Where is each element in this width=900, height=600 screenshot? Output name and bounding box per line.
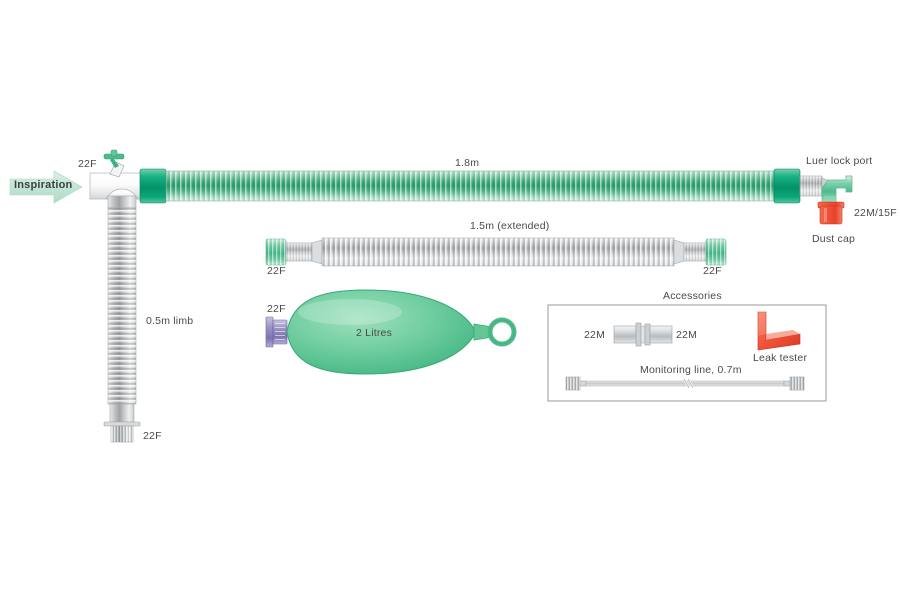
diagram-svg — [0, 0, 900, 600]
main-tube-length-label: 1.8m — [455, 157, 479, 169]
connector-left-size-label: 22M — [584, 329, 605, 341]
accessories-title: Accessories — [663, 290, 722, 302]
dust-cap-label: Dust cap — [812, 233, 855, 245]
connector-right-size-label: 22M — [676, 329, 697, 341]
tee-piece — [90, 150, 146, 199]
main-breathing-tube — [166, 171, 774, 201]
dust-cap — [818, 202, 844, 224]
bag-volume-label: 2 Litres — [356, 327, 392, 339]
limb-length-label: 0.5m limb — [146, 315, 193, 327]
extension-left-size-label: 22F — [267, 265, 286, 277]
extension-tube — [266, 238, 726, 266]
diagram-canvas: Inspiration 22F 1.8m Luer lock port 22M/… — [0, 0, 900, 600]
main-tube-left-cuff — [140, 169, 166, 203]
limb-tube — [104, 196, 140, 442]
inspiration-label: Inspiration — [14, 179, 72, 191]
main-tube-right-cuff — [774, 169, 800, 203]
accessory-connector — [614, 323, 672, 346]
leak-tester-label: Leak tester — [753, 352, 807, 364]
tee-port-size-label: 22F — [78, 158, 97, 170]
bag-neck-size-label: 22F — [267, 303, 286, 315]
limb-end-size-label: 22F — [143, 430, 162, 442]
extension-right-size-label: 22F — [703, 265, 722, 277]
monitoring-line-label: Monitoring line, 0.7m — [640, 364, 742, 376]
extension-length-label: 1.5m (extended) — [470, 220, 549, 232]
luer-lock-port-label: Luer lock port — [806, 155, 872, 167]
right-end-size-label: 22M/15F — [854, 207, 897, 219]
